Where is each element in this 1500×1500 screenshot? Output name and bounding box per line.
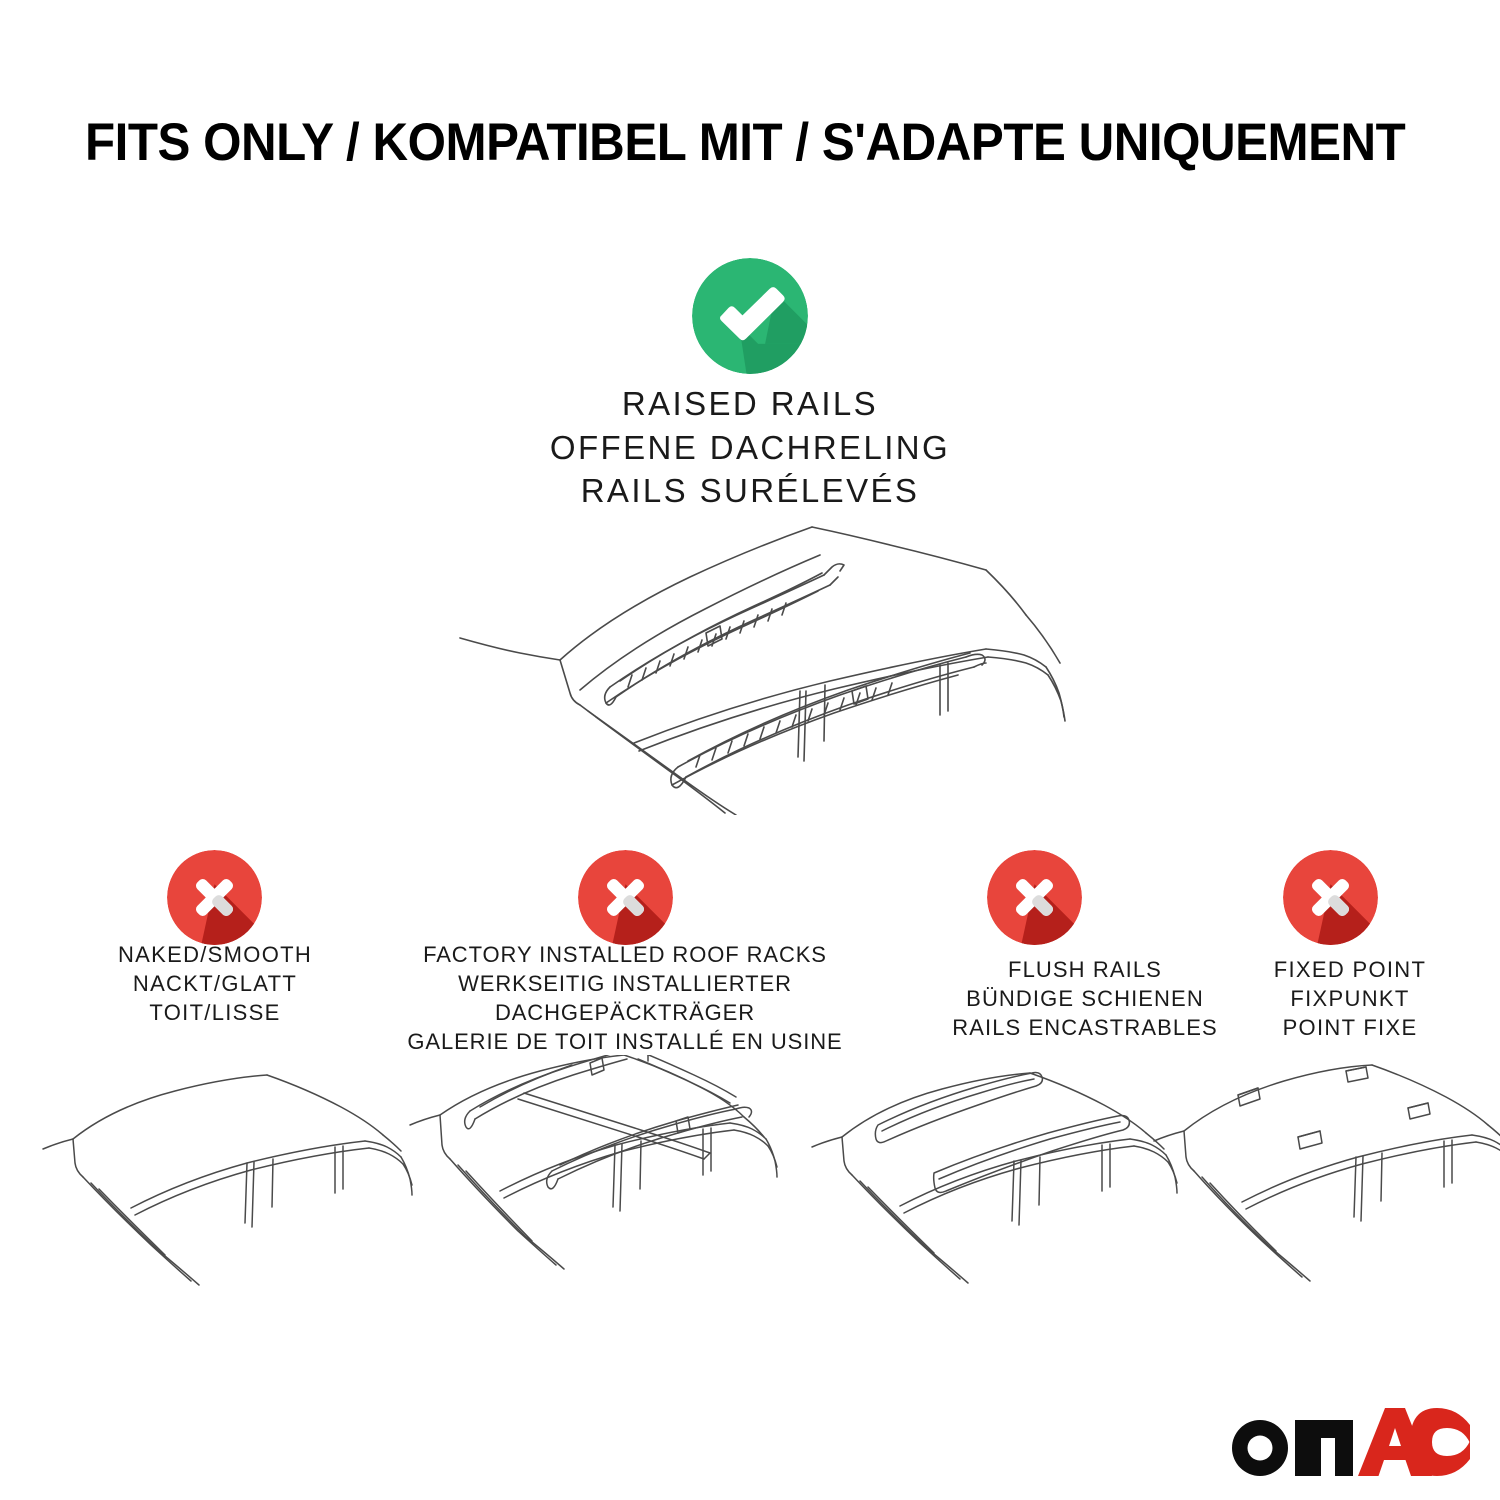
caption-line: TOIT/LISSE [35,998,395,1027]
check-icon [692,258,808,374]
incompatible-caption-1: NAKED/SMOOTH NACKT/GLATT TOIT/LISSE [35,940,395,1027]
car-roof-factory-racks-illustration [400,1055,780,1295]
cross-icon [578,850,673,945]
caption-line: NACKT/GLATT [35,969,395,998]
caption-line: NAKED/SMOOTH [35,940,395,969]
caption-line: GALERIE DE TOIT INSTALLÉ EN USINE [395,1027,855,1056]
incompatible-caption-4: FIXED POINT FIXPUNKT POINT FIXE [1215,955,1485,1042]
caption-line: FIXED POINT [1215,955,1485,984]
page-title: FITS ONLY / KOMPATIBEL MIT / S'ADAPTE UN… [85,112,1405,173]
caption-line: DACHGEPÄCKTRÄGER [395,998,855,1027]
cross-icon [987,850,1082,945]
car-roof-flush-rails-illustration [800,1055,1180,1295]
caption-line: WERKSEITIG INSTALLIERTER [395,969,855,998]
logo-letter-c [1410,1408,1470,1476]
caption-line: OFFENE DACHRELING [400,426,1100,470]
car-roof-fixed-point-illustration [1140,1055,1500,1295]
car-roof-raised-rails-illustration [420,505,1120,815]
caption-line: POINT FIXE [1215,1013,1485,1042]
caption-line: FIXPUNKT [1215,984,1485,1013]
cross-icon [167,850,262,945]
compatible-caption: RAISED RAILS OFFENE DACHRELING RAILS SUR… [400,382,1100,513]
car-roof-naked-smooth-illustration [35,1055,415,1295]
logo-letter-m [1295,1420,1353,1476]
omac-logo [1225,1405,1470,1477]
logo-letter-o [1232,1420,1288,1476]
cross-icon [1283,850,1378,945]
caption-line: RAISED RAILS [400,382,1100,426]
incompatible-caption-2: FACTORY INSTALLED ROOF RACKS WERKSEITIG … [395,940,855,1056]
caption-line: FACTORY INSTALLED ROOF RACKS [395,940,855,969]
fitment-infographic: FITS ONLY / KOMPATIBEL MIT / S'ADAPTE UN… [0,0,1500,1500]
